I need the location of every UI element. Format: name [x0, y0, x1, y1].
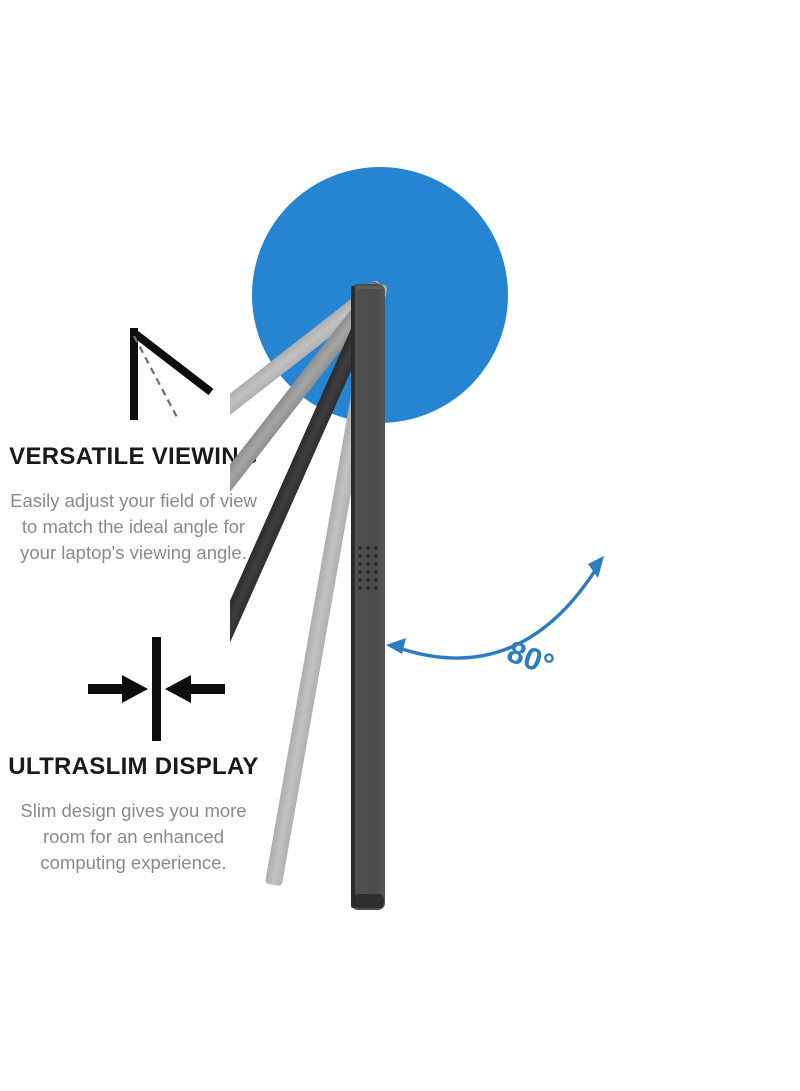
feature-description-text: Easily adjust your field of view to matc…	[0, 488, 267, 566]
thickness-arrows-icon	[78, 633, 238, 745]
page-title: ULTRASLIM DISPLAY	[0, 753, 267, 781]
feature-description-versatile-viewing: Easily adjust your field of view to matc…	[0, 488, 267, 566]
page-title: VERSATILE VIEWING	[0, 443, 267, 471]
feature-description-ultraslim-display: Slim design gives you more room for an e…	[0, 798, 267, 876]
feature-title-versatile-viewing: VERSATILE VIEWING	[0, 443, 267, 471]
adjustable-monitor-hinge-diagram: 80°	[230, 150, 800, 950]
hinge-angle-icon	[78, 318, 238, 430]
angle-value-label: 80°	[503, 634, 559, 683]
feature-title-ultraslim-display: ULTRASLIM DISPLAY	[0, 753, 267, 781]
feature-description-text: Slim design gives you more room for an e…	[0, 798, 267, 876]
angle-measurement-arc	[386, 556, 604, 658]
product-infographic: VERSATILE VIEWING Easily adjust your fie…	[0, 0, 800, 1091]
monitor-side-profile	[351, 284, 385, 910]
